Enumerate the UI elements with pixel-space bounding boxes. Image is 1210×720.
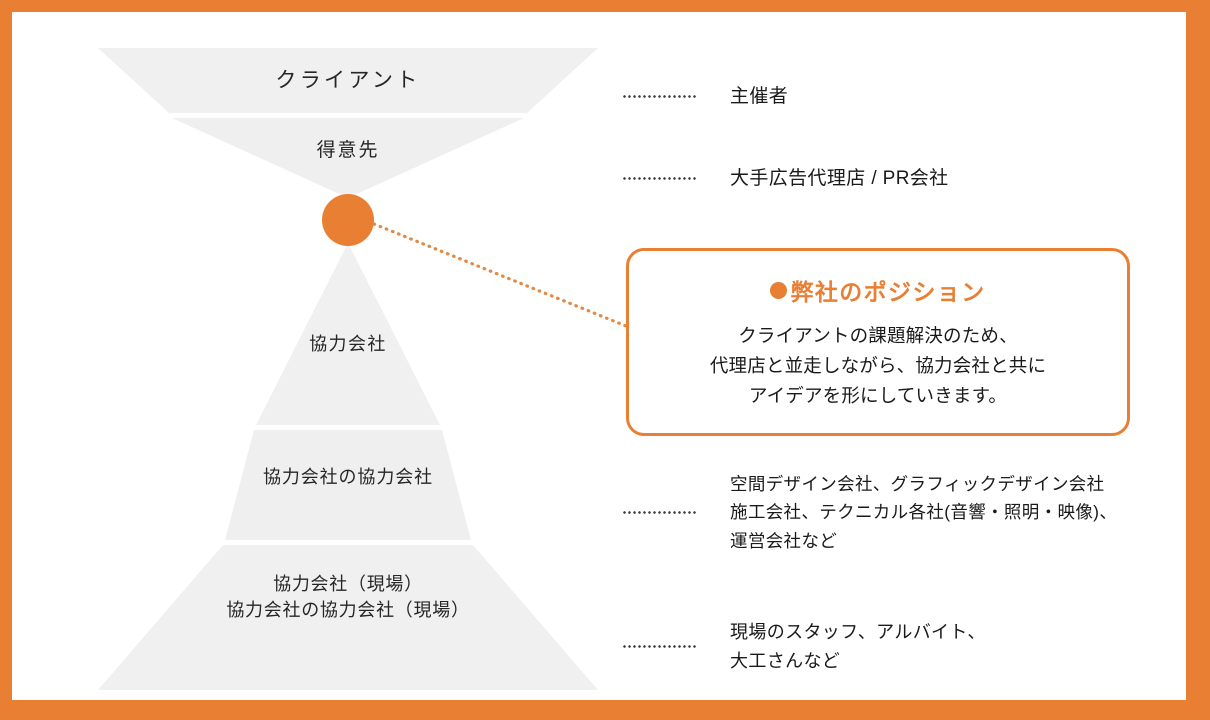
band-label-site: 協力会社（現場） 協力会社の協力会社（現場） — [98, 571, 598, 623]
annotation-text: 空間デザイン会社、グラフィックデザイン会社 施工会社、テクニカル各社(音響・照明… — [730, 470, 1117, 555]
leader-dots-icon — [622, 177, 698, 180]
position-node-circle — [322, 194, 374, 246]
annotation-text: 大手広告代理店 / PR会社 — [730, 164, 949, 193]
band-label-client: クライアント — [98, 66, 598, 96]
annotation-subpartner: 空間デザイン会社、グラフィックデザイン会社 施工会社、テクニカル各社(音響・照明… — [622, 470, 1117, 555]
band-label-partner: 協力会社 — [148, 331, 548, 357]
annotation-text: 現場のスタッフ、アルバイト、 大工さんなど — [730, 618, 986, 676]
position-callout-box: 弊社のポジション クライアントの課題解決のため、 代理店と並走しながら、協力会社… — [626, 248, 1130, 436]
leader-dots-icon — [622, 645, 698, 648]
annotation-site: 現場のスタッフ、アルバイト、 大工さんなど — [622, 618, 986, 676]
slide-canvas: クライアント 得意先 協力会社 協力会社の協力会社 協力会社（現場） 協力会社の… — [0, 0, 1210, 720]
annotation-customer: 大手広告代理店 / PR会社 — [622, 164, 949, 193]
callout-title-text: 弊社のポジション — [790, 273, 985, 307]
annotation-text: 主催者 — [730, 82, 788, 111]
leader-dots-icon — [622, 95, 698, 98]
bullet-circle-icon — [770, 282, 787, 299]
annotation-client: 主催者 — [622, 82, 788, 111]
band-label-subpartner: 協力会社の協力会社 — [118, 464, 578, 490]
frame-border-right — [1186, 0, 1210, 720]
connector-dotted-line — [374, 224, 626, 326]
callout-body-text: クライアントの課題解決のため、 代理店と並走しながら、協力会社と共に アイデアを… — [710, 321, 1046, 411]
band-label-customer: 得意先 — [98, 137, 598, 165]
callout-title: 弊社のポジション — [770, 273, 985, 307]
leader-dots-icon — [622, 511, 698, 514]
